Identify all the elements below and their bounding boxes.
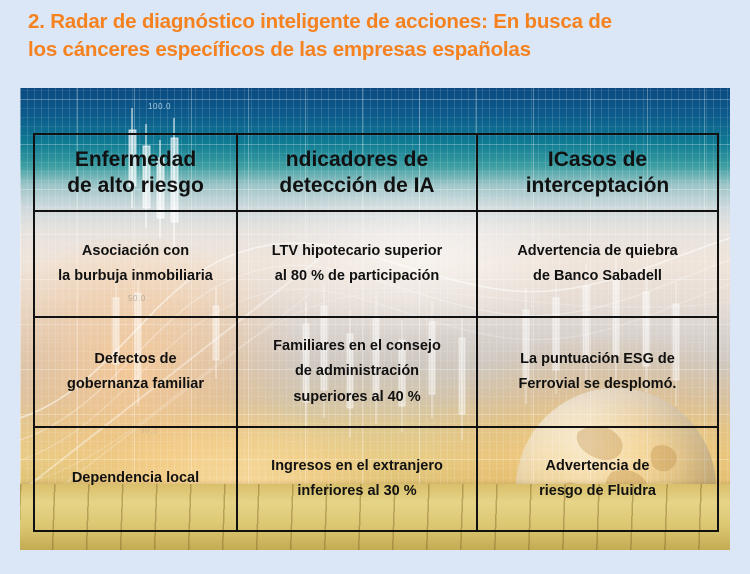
column-header-indicators: ndicadores de detección de IA xyxy=(237,134,477,211)
background-photo-panel: 100.0 50.0 61.8 38.2 xyxy=(20,88,730,550)
cell-indicator-2: Familiares en el consejo de administraci… xyxy=(237,317,477,427)
cell-case-1: Advertencia de quiebra de Banco Sabadell xyxy=(477,211,718,317)
page-title: 2. Radar de diagnóstico inteligente de a… xyxy=(28,8,728,64)
column-header-cases: ICasos de interceptación xyxy=(477,134,718,211)
background-axis-label-100: 100.0 xyxy=(148,102,171,111)
cell-indicator-3: Ingresos en el extranjero inferiores al … xyxy=(237,427,477,531)
table-row: Asociación con la burbuja inmobiliaria L… xyxy=(34,211,718,317)
risk-diagnostics-table: Enfermedad de alto riesgo ndicadores de … xyxy=(33,133,719,532)
table-row: Dependencia local Ingresos en el extranj… xyxy=(34,427,718,531)
column-header-disease: Enfermedad de alto riesgo xyxy=(34,134,237,211)
table-header-row: Enfermedad de alto riesgo ndicadores de … xyxy=(34,134,718,211)
table-row: Defectos de gobernanza familiar Familiar… xyxy=(34,317,718,427)
cell-disease-1: Asociación con la burbuja inmobiliaria xyxy=(34,211,237,317)
cell-case-2: La puntuación ESG de Ferrovial se desplo… xyxy=(477,317,718,427)
cell-case-3: Advertencia de riesgo de Fluidra xyxy=(477,427,718,531)
cell-disease-3: Dependencia local xyxy=(34,427,237,531)
cell-indicator-1: LTV hipotecario superior al 80 % de part… xyxy=(237,211,477,317)
cell-disease-2: Defectos de gobernanza familiar xyxy=(34,317,237,427)
